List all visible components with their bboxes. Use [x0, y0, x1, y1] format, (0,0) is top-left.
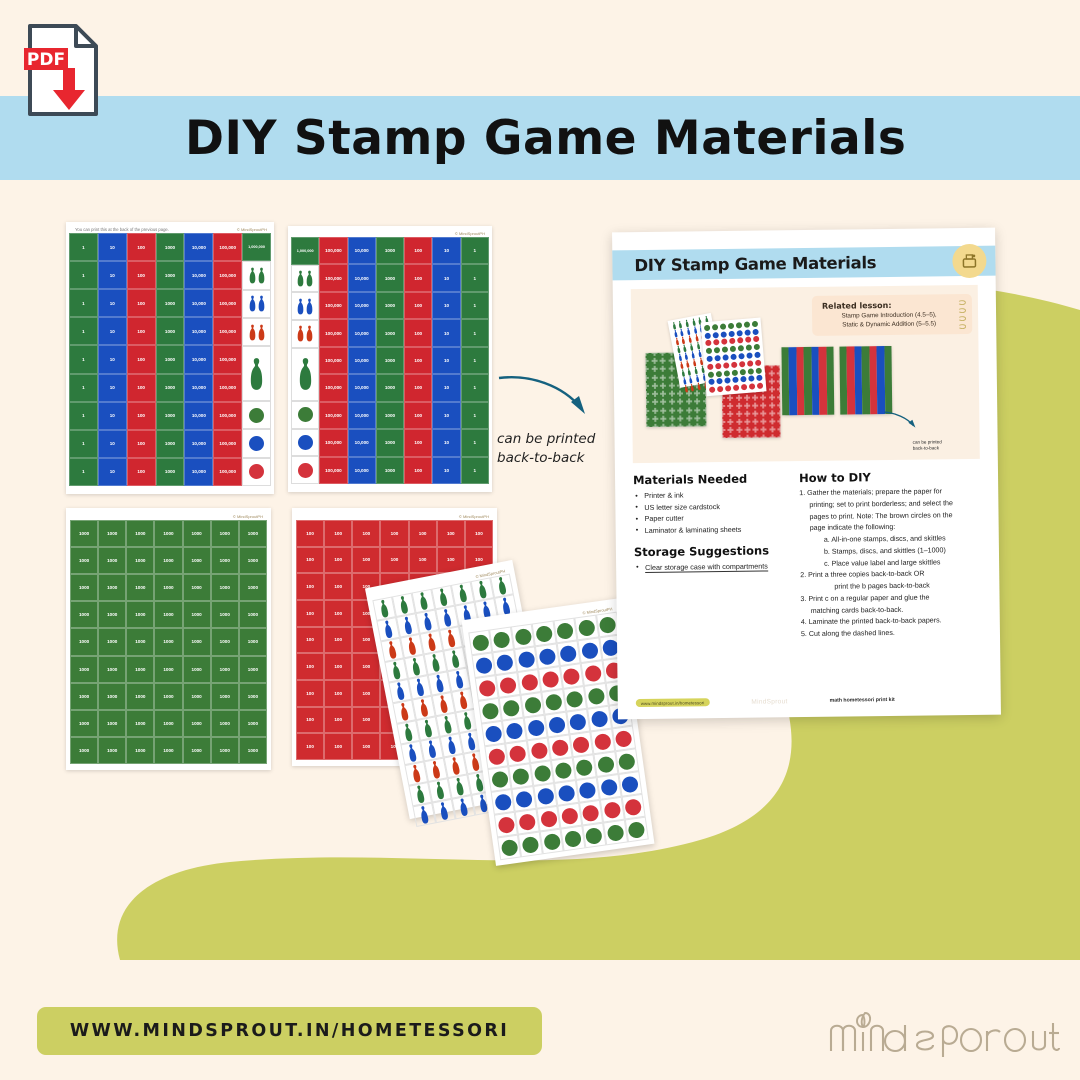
disc-tile [518, 832, 542, 858]
disc-icon [542, 670, 560, 688]
place-value-cell: 100 [404, 319, 432, 346]
disc-icon [757, 383, 763, 389]
watermark: © MindSproutPH [233, 514, 263, 519]
document-footer: www.mindsprout.in/hometessori MindSprout… [618, 695, 1001, 708]
place-value-cell: 10 [98, 374, 127, 402]
mini-tile [763, 397, 771, 405]
storage-list: Clear storage case with compartments [634, 560, 786, 574]
disc-tile [494, 812, 518, 838]
mini-tile [739, 414, 747, 422]
place-value-column: 10,00010,00010,00010,00010,00010,00010,0… [184, 233, 213, 486]
disc-tile [517, 669, 541, 695]
stamp-cell: 1000 [126, 574, 154, 601]
sheet-place-value-front: You can print this at the back of the pr… [66, 222, 274, 494]
place-value-column: 100,000100,000100,000100,000100,000100,0… [319, 237, 347, 484]
token-cell [242, 458, 271, 486]
disc-tile [496, 672, 520, 698]
skittle-icon [469, 752, 480, 772]
stamp-cell: 1000 [70, 683, 98, 710]
disc-tile [579, 800, 603, 826]
mini-tile [663, 410, 672, 418]
stamp-cell: 1000 [239, 601, 267, 628]
place-value-cell: 100,000 [319, 319, 347, 346]
pdf-download-icon[interactable]: PDF [24, 22, 102, 118]
place-value-cell: 10,000 [184, 430, 213, 458]
disc-icon [716, 378, 722, 384]
stamp-cell: 1000 [183, 710, 211, 737]
place-value-cell: 10 [98, 430, 127, 458]
place-value-cell: 1000 [156, 430, 185, 458]
place-value-cell: 100 [404, 347, 432, 374]
disc-icon [713, 339, 719, 345]
token-cell [291, 320, 319, 348]
place-value-column: 100100100100100100100100100 [404, 237, 432, 484]
mini-tile [772, 405, 780, 413]
place-value-cell: 100 [127, 261, 156, 289]
skittle-icon [249, 267, 256, 284]
stamp-cell: 1000 [183, 656, 211, 683]
bottom-url-banner[interactable]: WWW.MINDSPROUT.IN/HOMETESSORI [37, 1007, 542, 1055]
disc-icon [729, 338, 735, 344]
disc-icon [754, 352, 760, 358]
place-value-column: 100,000100,000100,000100,000100,000100,0… [213, 233, 242, 486]
disc-tile [471, 652, 495, 678]
disc-icon [514, 627, 532, 645]
disc-icon [500, 838, 518, 856]
disc-tile [542, 689, 566, 715]
token-cell [242, 290, 271, 318]
disc-icon [738, 353, 744, 359]
disc-icon [521, 835, 539, 853]
curved-arrow-icon [497, 372, 617, 424]
mini-tile [654, 353, 663, 361]
disc-icon [708, 371, 714, 377]
token-cell [291, 265, 319, 293]
disc-icon [756, 375, 762, 381]
place-value-cell: 100,000 [319, 264, 347, 291]
place-value-cell: 1 [69, 317, 98, 345]
mini-tile [731, 422, 739, 430]
place-value-cell: 100,000 [213, 374, 242, 402]
stamp-cell: 100 [409, 547, 437, 574]
place-value-cell: 1 [461, 347, 489, 374]
stamp-cell: 1000 [211, 710, 239, 737]
mini-tile [672, 410, 681, 418]
place-value-cell: 10,000 [184, 317, 213, 345]
sheet-note: You can print this at the back of the pr… [69, 225, 271, 233]
skittle-icon [442, 715, 453, 735]
disc-icon [587, 687, 605, 705]
stamp-cell: 1000 [126, 547, 154, 574]
place-value-cell: 10 [98, 261, 127, 289]
sheet-note: © MindSproutPH [291, 229, 489, 237]
place-value-cell: 100 [404, 237, 432, 264]
disc-icon [563, 667, 581, 685]
watermark: © MindSproutPH [459, 514, 489, 519]
disc-icon [558, 784, 576, 802]
mini-tile [722, 430, 730, 438]
disc-icon [717, 386, 723, 392]
stamp-cell: 1000 [126, 628, 154, 655]
stamp-cell: 1000 [211, 601, 239, 628]
stamp-cell: 1000 [98, 547, 126, 574]
disc-icon [709, 387, 715, 393]
mini-tile [655, 402, 664, 410]
place-value-cell: 10 [98, 233, 127, 261]
place-value-cell: 1000 [156, 402, 185, 430]
place-value-cell: 1 [69, 430, 98, 458]
mini-tile [663, 402, 672, 410]
disc-icon [496, 653, 514, 671]
disc-icon [705, 340, 711, 346]
place-value-cell: 1000 [376, 237, 404, 264]
mini-tile [663, 394, 672, 402]
mini-tile [646, 378, 655, 386]
disc-tile [597, 774, 621, 800]
stamp-cell: 1000 [211, 656, 239, 683]
mini-tile [756, 382, 765, 390]
disc-tile [478, 698, 502, 724]
skittle-icon [438, 694, 449, 714]
place-value-grid: 1,000,000100,000100,000100,000100,000100… [291, 237, 489, 484]
place-value-cell: 1000 [376, 457, 404, 484]
disc-tile [468, 630, 492, 656]
disc-icon [749, 383, 755, 389]
stamp-cell: 1000 [211, 737, 239, 764]
place-value-cell: 1 [461, 402, 489, 429]
stamp-cell: 1000 [98, 574, 126, 601]
disc-icon [706, 356, 712, 362]
disc-icon [715, 363, 721, 369]
disc-tile [566, 709, 590, 735]
disc-icon [600, 778, 618, 796]
place-value-cell: 10,000 [348, 429, 376, 456]
skittle-icon [394, 681, 405, 701]
disc-tile [493, 649, 517, 675]
place-value-cell: 100 [404, 374, 432, 401]
skittle-icon [249, 357, 264, 391]
disc-icon [515, 790, 533, 808]
mini-place-value-b [839, 346, 892, 415]
place-value-cell: 10,000 [184, 345, 213, 373]
disc-icon [475, 656, 493, 674]
place-value-cell: 10,000 [348, 319, 376, 346]
place-value-cell: 1 [461, 264, 489, 291]
disc-icon [538, 647, 556, 665]
howto-column: How to DIY 1. Gather the materials; prep… [799, 469, 982, 641]
stamp-cell: 1000 [126, 520, 154, 547]
disc-icon [606, 823, 624, 841]
skittle-icon [422, 718, 433, 738]
place-value-cell: 1000 [156, 261, 185, 289]
disc-tile [590, 729, 614, 755]
skittle-icon [453, 670, 464, 690]
disc-icon [585, 826, 603, 844]
mini-tile [755, 414, 763, 422]
place-value-cell: 100,000 [319, 292, 347, 319]
disc-tile [574, 615, 598, 641]
skittle-icon [454, 776, 465, 796]
stamp-cell: 100 [352, 520, 380, 547]
mini-tile [731, 414, 739, 422]
disc-icon [481, 702, 499, 720]
place-value-cell: 1 [461, 319, 489, 346]
skittle-icon [418, 805, 429, 825]
disc-tile [484, 743, 508, 769]
place-value-cell: 100,000 [213, 289, 242, 317]
disc-icon [556, 621, 574, 639]
place-value-column: 1,000,000 [242, 233, 271, 486]
place-value-cell: 100 [127, 317, 156, 345]
place-value-cell: 10 [432, 292, 460, 319]
mini-tile [698, 410, 707, 418]
disc-tile [512, 786, 536, 812]
disc-tile [489, 627, 513, 653]
mini-tile [764, 421, 772, 429]
disc-tile [572, 754, 596, 780]
disc-tile [499, 695, 523, 721]
place-value-cell: 100,000 [319, 429, 347, 456]
stamp-cell: 1000 [154, 628, 182, 655]
skittle-icon [306, 325, 313, 342]
sheet-stamps-1000: © MindSproutPH 1000100010001000100010001… [66, 508, 271, 770]
disc-icon [720, 331, 726, 337]
skittle-icon [441, 608, 452, 628]
place-value-cell: 10 [432, 457, 460, 484]
mini-tile [646, 361, 655, 369]
mini-tile [654, 377, 663, 385]
stamp-cell: 1000 [70, 656, 98, 683]
disc-tile [487, 766, 511, 792]
stamp-cell: 100 [324, 600, 352, 627]
disc-icon [493, 630, 511, 648]
disc-icon [730, 346, 736, 352]
place-value-cell: 10 [432, 429, 460, 456]
mini-tile [747, 406, 755, 414]
skittle-icon [496, 576, 507, 596]
mini-tile [689, 410, 698, 418]
stamp-cell: 100 [352, 547, 380, 574]
disc-icon [712, 332, 718, 338]
token-cell [291, 401, 319, 429]
stamp-cell: 100 [324, 627, 352, 654]
place-value-cell: 10,000 [184, 289, 213, 317]
mini-tile [772, 413, 780, 421]
stamp-cell: 1000 [126, 656, 154, 683]
place-value-cell: 1000 [376, 264, 404, 291]
place-value-cell: 1 [69, 402, 98, 430]
disc-tile [536, 806, 560, 832]
skittle-icon [249, 295, 256, 312]
mini-tile [722, 398, 730, 406]
mini-tile [755, 398, 763, 406]
mini-tile [646, 386, 655, 394]
skittle-icon [406, 743, 417, 763]
place-value-cell: 10 [98, 289, 127, 317]
place-value-cell: 1000 [156, 374, 185, 402]
disc-icon [712, 324, 718, 330]
disc-icon [530, 741, 548, 759]
place-value-cell: 10 [98, 458, 127, 486]
place-value-cell: 10 [432, 402, 460, 429]
skittle-icon [390, 660, 401, 680]
disc-icon [740, 376, 746, 382]
place-value-cell: 100,000 [319, 457, 347, 484]
disc-tile [553, 618, 577, 644]
disc-icon [722, 347, 728, 353]
place-value-cell: 10 [432, 374, 460, 401]
place-value-cell: 10 [98, 317, 127, 345]
mini-tile [764, 429, 772, 437]
stamp-cell: 1000 [154, 547, 182, 574]
place-value-cell: 1000 [376, 429, 404, 456]
disc-icon [725, 385, 731, 391]
disc-icon [298, 435, 313, 450]
annotation-line-1: can be printed [497, 431, 627, 448]
disc-icon [590, 710, 608, 728]
place-value-cell: 100 [404, 402, 432, 429]
stamp-cell: 100 [296, 707, 324, 734]
disc-tile [538, 666, 562, 692]
stamp-cell: 1000 [239, 547, 267, 574]
disc-icon [724, 378, 730, 384]
skittle-icon [402, 615, 413, 635]
stamp-cell: 1000 [70, 737, 98, 764]
stamp-cell: 1000 [70, 547, 98, 574]
disc-icon [746, 352, 752, 358]
stamp-cell: 100 [352, 707, 380, 734]
stamp-cell: 1000 [183, 737, 211, 764]
disc-icon [512, 767, 530, 785]
skittle-icon [414, 784, 425, 804]
stamp-cell: 1000 [154, 574, 182, 601]
disc-tile [475, 675, 499, 701]
skittle-icon [450, 756, 461, 776]
stamp-cell: 1000 [98, 628, 126, 655]
mini-pv-column [826, 347, 834, 415]
skittle-icon [434, 673, 445, 693]
place-value-cell: 1 [461, 429, 489, 456]
mini-tile [747, 430, 755, 438]
stamp-cell: 100 [296, 573, 324, 600]
mini-tile [772, 397, 780, 405]
document-preview[interactable]: DIY Stamp Game Materials [612, 228, 1001, 720]
materials-heading: Materials Needed [633, 471, 785, 487]
mini-tile [663, 369, 672, 377]
place-value-column: 111111111 [461, 237, 489, 484]
disc-icon [497, 816, 515, 834]
skittle-icon [426, 739, 437, 759]
svg-text:PDF: PDF [27, 50, 65, 70]
place-value-cell: 1000 [156, 458, 185, 486]
mini-place-value-a [781, 347, 834, 416]
disc-icon [621, 775, 639, 793]
mini-tile [697, 393, 706, 401]
stamp-cell: 100 [324, 680, 352, 707]
place-value-cell: 10 [432, 347, 460, 374]
mini-tile [698, 418, 707, 426]
place-value-column: 100100100100100100100100100 [127, 233, 156, 486]
annotation-line-2: back-to-back [497, 450, 627, 467]
stamp-cell: 1000 [239, 574, 267, 601]
disc-icon [548, 716, 566, 734]
skittle-icon [406, 636, 417, 656]
disc-icon [579, 781, 597, 799]
skittle-icon [398, 595, 409, 615]
disc-tile [556, 640, 580, 666]
mini-tile [772, 429, 780, 437]
disc-icon [491, 770, 509, 788]
disc-icon [755, 359, 761, 365]
mini-tile [663, 353, 672, 361]
mini-tile [772, 381, 780, 389]
mini-tile [646, 419, 655, 427]
place-value-cell: 1000 [156, 345, 185, 373]
skittle-icon [298, 357, 313, 391]
stamp-cell: 1000 [154, 737, 182, 764]
disc-icon [722, 354, 728, 360]
page-title: DIY Stamp Game Materials [185, 111, 906, 166]
mini-tile [689, 418, 698, 426]
disc-icon [738, 345, 744, 351]
stamp-cell: 1000 [239, 520, 267, 547]
stamp-cell: 1000 [239, 737, 267, 764]
stamp-cell: 100 [437, 520, 465, 547]
sprout-logo [825, 1005, 1060, 1057]
stamp-cell: 1000 [70, 710, 98, 737]
lesson-line-1: Stamp Game Introduction (4.5–5), [822, 311, 956, 320]
stamp-cell: 1000 [154, 601, 182, 628]
skittle-icon [445, 628, 456, 648]
place-value-cell: 100 [404, 429, 432, 456]
disc-icon [746, 345, 752, 351]
mini-tile [689, 402, 698, 410]
disc-icon [733, 385, 739, 391]
stamp-cell: 100 [296, 733, 324, 760]
place-value-cell: 10,000 [184, 402, 213, 430]
disc-icon [737, 337, 743, 343]
disc-tile [551, 757, 575, 783]
place-value-column: 1,000,000 [291, 237, 319, 484]
watermark: © MindSproutPH [237, 227, 267, 232]
disc-icon [581, 641, 599, 659]
stamp-cell: 1000 [70, 601, 98, 628]
mini-tile [755, 406, 763, 414]
document-photo-note: can be printed back-to-back [913, 439, 973, 452]
stamp-grid: 1000100010001000100010001000100010001000… [70, 520, 267, 764]
disc-icon [724, 370, 730, 376]
disc-icon [533, 764, 551, 782]
materials-item: Laminator & laminating sheets [634, 523, 786, 537]
stamp-cell: 100 [352, 653, 380, 680]
place-value-cell: 100,000 [213, 261, 242, 289]
disc-icon [249, 408, 264, 423]
mini-tile [654, 386, 663, 394]
disc-icon [578, 618, 596, 636]
place-value-column: 101010101010101010 [432, 237, 460, 484]
disc-icon [584, 664, 602, 682]
stamp-cell: 1000 [154, 656, 182, 683]
skittle-icon [249, 324, 256, 341]
place-value-cell: 100,000 [213, 345, 242, 373]
materials-list: Printer & inkUS letter size cardstockPap… [633, 488, 786, 536]
place-value-cell: 100,000 [319, 237, 347, 264]
skittle-icon [378, 599, 389, 619]
disc-tile [532, 621, 556, 647]
place-value-cell: 1 [69, 233, 98, 261]
skittle-icon [477, 580, 488, 600]
stamp-cell: 1000 [70, 628, 98, 655]
